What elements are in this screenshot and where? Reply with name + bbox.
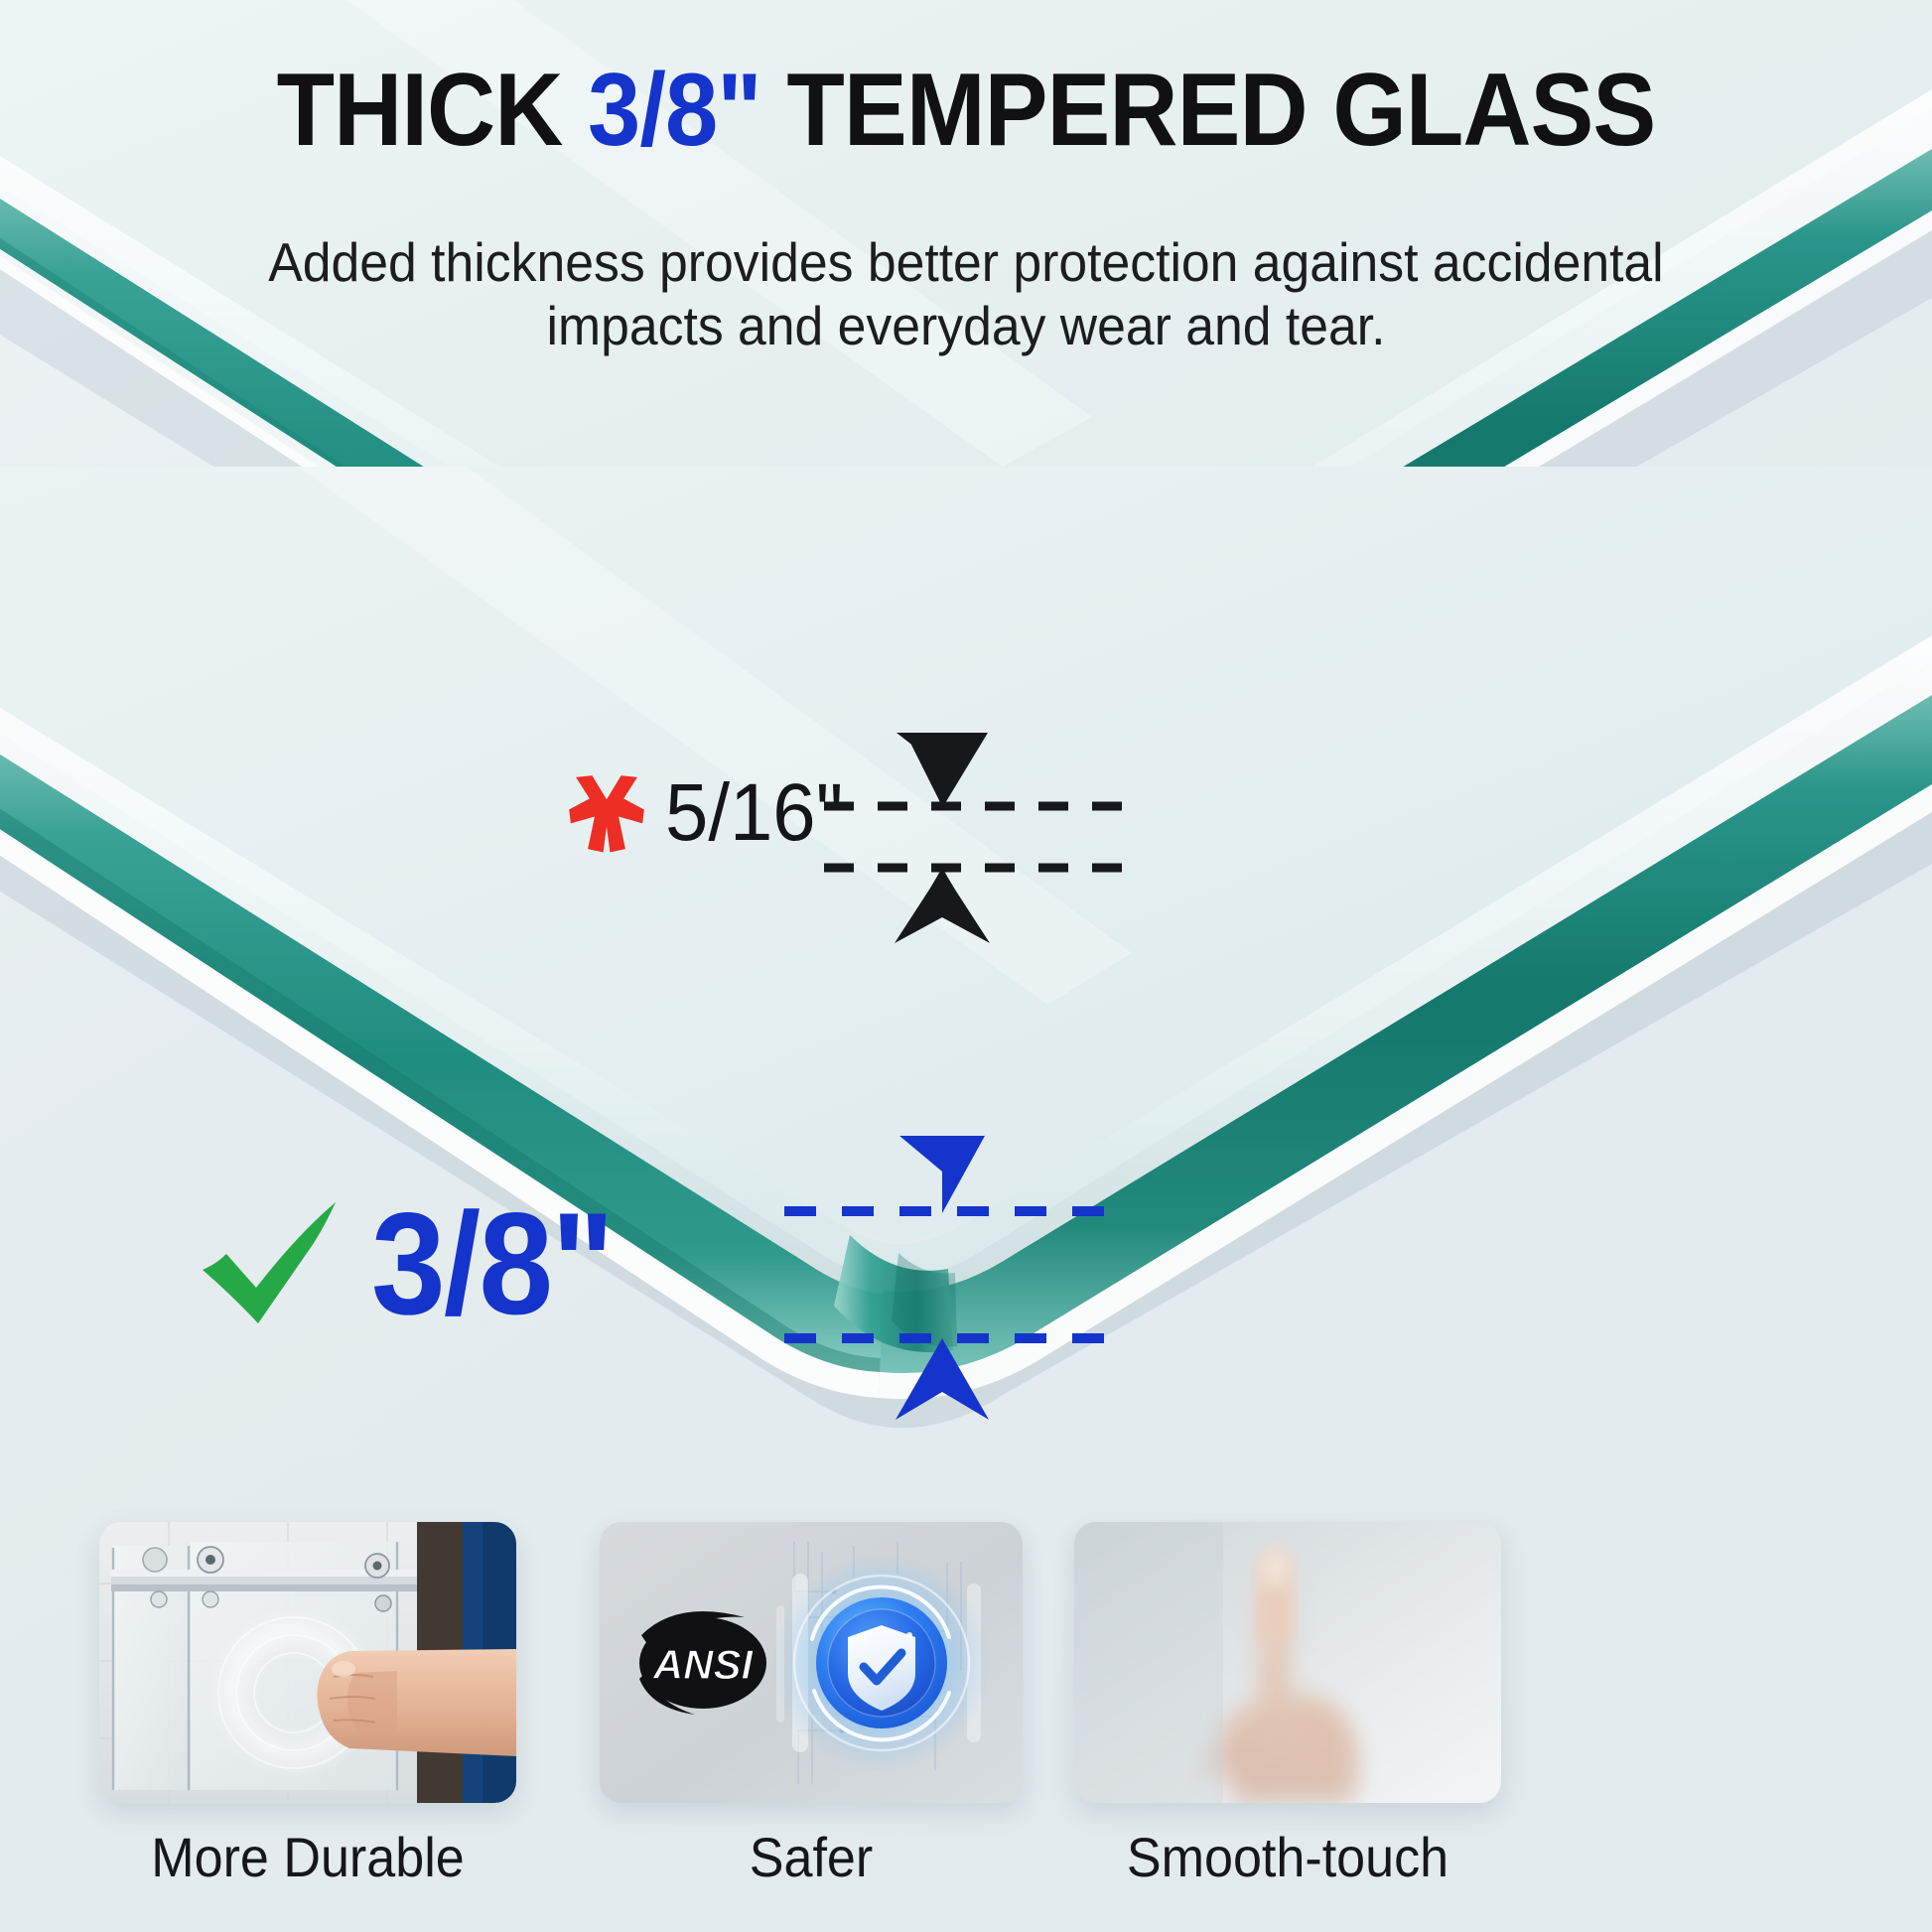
pointing-finger-icon [1074, 1522, 1501, 1803]
ansi-logo-text: ANSI [652, 1641, 755, 1688]
red-x-icon [564, 770, 649, 856]
caption-more-durable: More Durable [114, 1825, 502, 1889]
callout-thick: 3/8" [195, 1191, 633, 1336]
caption-smooth-touch: Smooth-touch [1089, 1825, 1486, 1889]
caption-safer: Safer [615, 1825, 1008, 1889]
chevron-up-black-icon [895, 870, 990, 943]
card-more-durable[interactable] [99, 1522, 516, 1803]
callout-thin-label: 5/16" [665, 766, 843, 860]
infographic-canvas: THICK 3/8" TEMPERED GLASS Added thicknes… [0, 0, 1932, 1932]
feature-cards: ANSI [0, 1522, 1932, 1820]
chevron-down-black-icon [897, 733, 988, 808]
fist-impact-icon [99, 1522, 516, 1803]
callout-thick-label: 3/8" [371, 1191, 613, 1336]
card-safer[interactable]: ANSI [600, 1522, 1023, 1803]
card-smooth-touch[interactable] [1074, 1522, 1501, 1803]
shield-check-icon: ANSI [600, 1522, 1023, 1803]
callout-thin: 5/16" [564, 766, 853, 860]
green-check-icon [195, 1198, 344, 1329]
